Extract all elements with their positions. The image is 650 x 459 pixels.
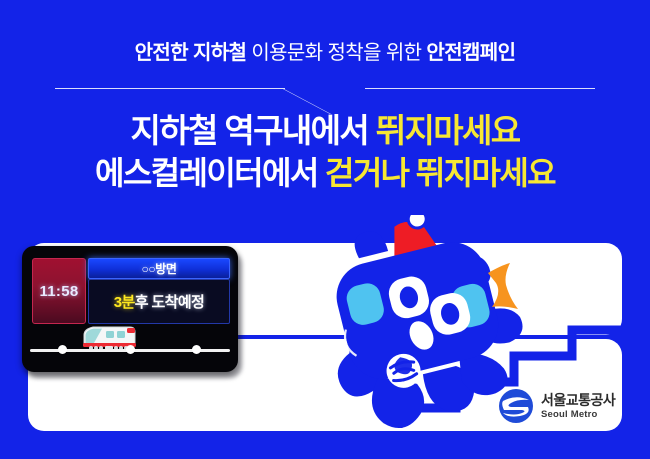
clock-panel: 11:58 <box>32 258 86 324</box>
seoul-metro-s-emblem <box>498 388 534 424</box>
station-dot <box>58 345 67 354</box>
kicker-part1: 안전한 지하철 <box>135 42 247 64</box>
campaign-poster: 안전한 지하철 이용문화 정착을 위한 안전캠페인 지하철 역구내에서 뛰지마세… <box>0 0 650 459</box>
arrival-display-board: 11:58 ○○방면 3분 후 도착예정 <box>22 246 238 372</box>
station-dot <box>192 345 201 354</box>
headline-line2-yellow: 걷거나 뛰지마세요 <box>325 155 555 191</box>
headline-line2-white: 에스컬레이터에서 <box>95 155 325 191</box>
eta-minutes: 3분 <box>114 291 135 312</box>
logo-english-name: Seoul Metro <box>541 410 615 420</box>
headline-line-2: 에스컬레이터에서 걷거나 뛰지마세요 <box>0 153 650 195</box>
divider-left-segment <box>55 88 285 89</box>
poster-kicker: 안전한 지하철 이용문화 정착을 위한 안전캠페인 <box>0 36 650 65</box>
divider-right-segment <box>365 88 595 89</box>
destination-bar: ○○방면 <box>88 258 230 279</box>
logo-text-block: 서울교통공사 Seoul Metro <box>541 393 615 420</box>
kicker-part2: 이용문화 정착을 위한 <box>246 42 426 64</box>
page-title: 지하철 역구내에서 뛰지마세요 에스컬레이터에서 걷거나 뛰지마세요 <box>0 110 650 194</box>
clock-time: 11:58 <box>39 283 78 300</box>
headline-line-1: 지하철 역구내에서 뛰지마세요 <box>0 110 650 153</box>
seoul-metro-logo: 서울교통공사 Seoul Metro <box>498 386 618 426</box>
headline-line1-white: 지하철 역구내에서 <box>130 112 375 149</box>
headline-line1-yellow: 뛰지마세요 <box>376 112 520 149</box>
kicker-part3: 안전캠페인 <box>426 42 515 64</box>
eta-panel: 3분 후 도착예정 <box>88 279 230 324</box>
logo-korean-name: 서울교통공사 <box>541 393 615 407</box>
station-dot <box>126 345 135 354</box>
destination-label: ○○방면 <box>142 260 177 277</box>
motion-spark-icon <box>486 263 520 311</box>
eta-text: 후 도착예정 <box>135 291 205 312</box>
